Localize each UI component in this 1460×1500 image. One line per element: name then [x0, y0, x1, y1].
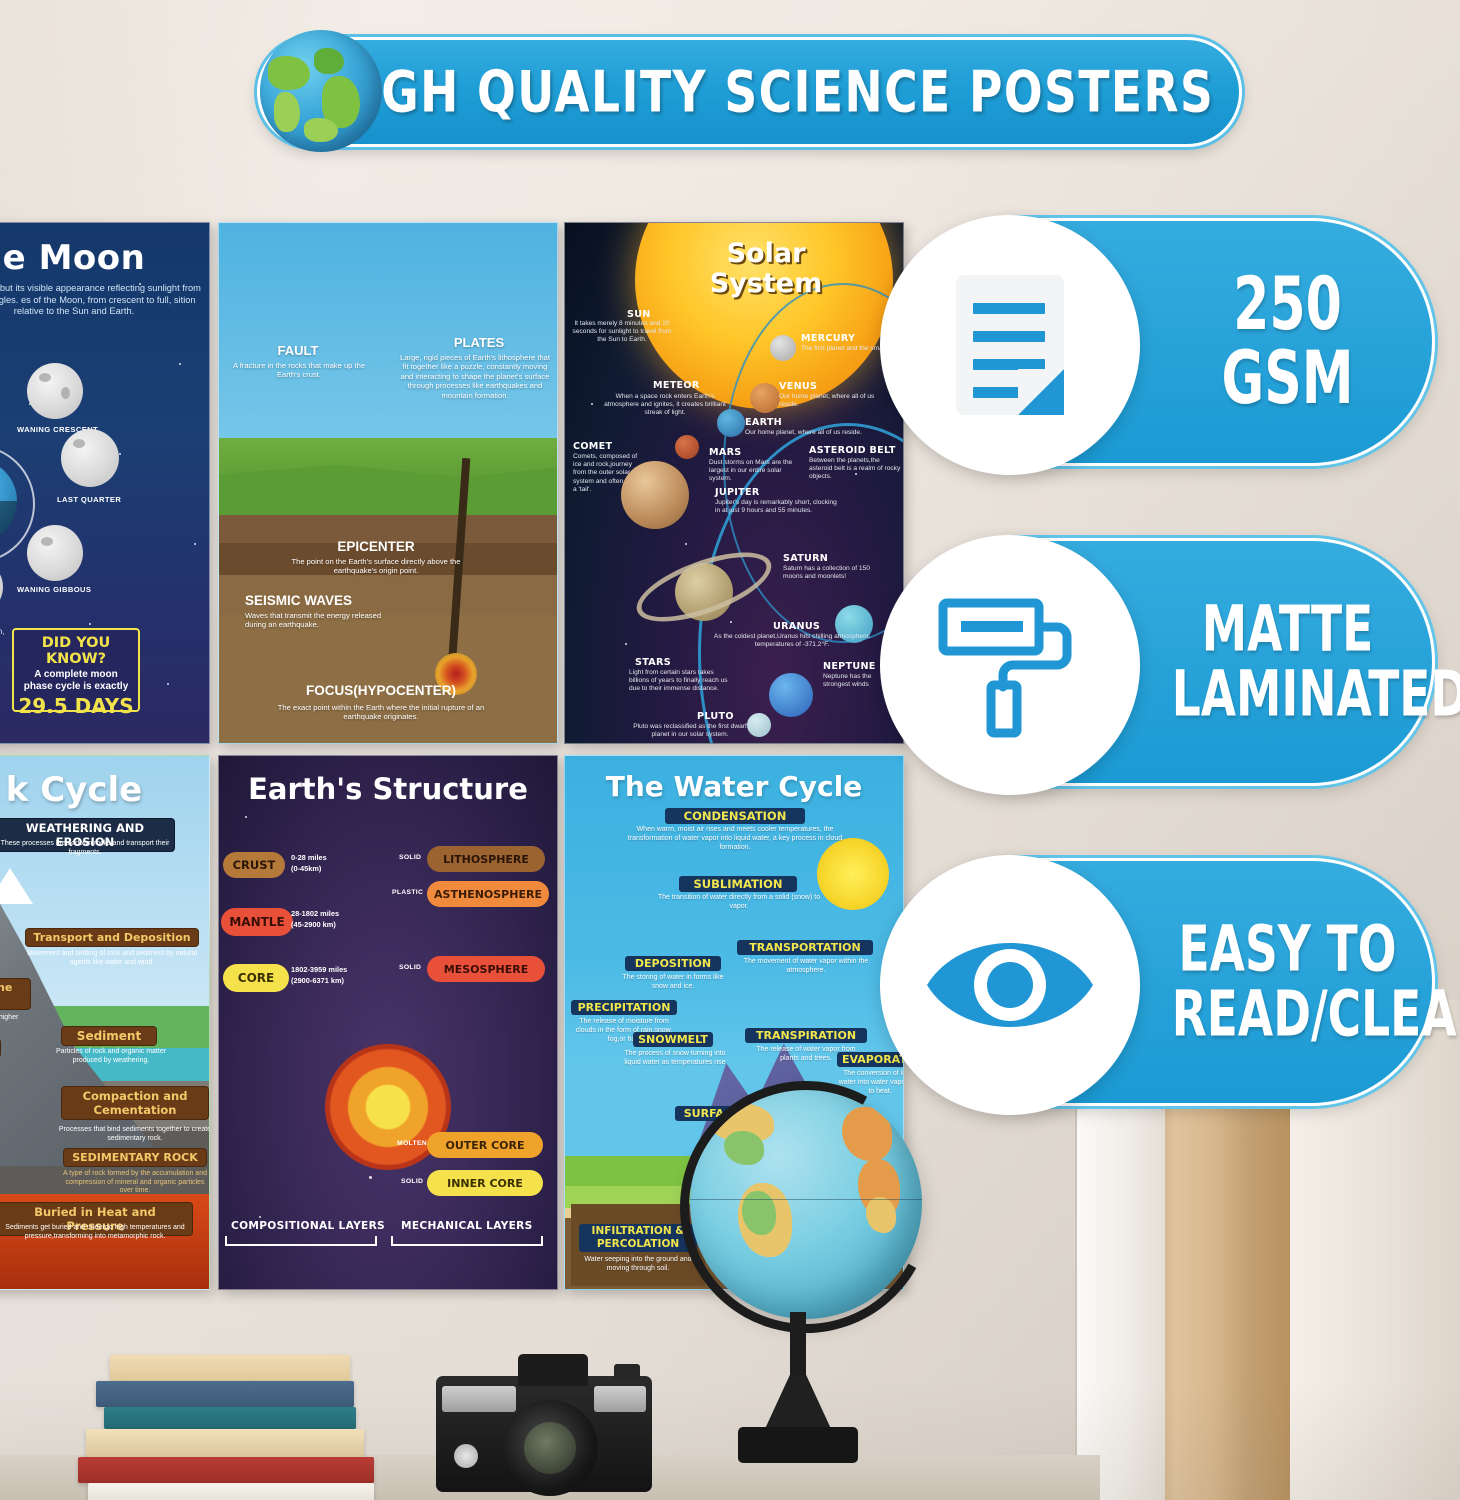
badge-line-2: READ/CLEAN — [1172, 977, 1460, 1051]
badge-icon-circle — [880, 215, 1140, 475]
layer-state-outer-core: MOLTEN — [397, 1140, 427, 1147]
feature-badge-easy: EASY TO READ/CLEAN — [895, 858, 1435, 1106]
layer-state-inner-core: SOLID — [401, 1178, 423, 1185]
stage-heading-deposition: DEPOSITION — [625, 956, 721, 971]
did-you-know-heading: DID YOU KNOW? — [14, 635, 138, 667]
depth-km: (45-2900 km) — [291, 920, 336, 929]
body-desc-asteroid-belt: Between the planets,the asteroid belt is… — [809, 457, 901, 482]
badge-line-1: MATTE — [1202, 592, 1373, 666]
badge-label-gsm: 250 GSM — [1172, 268, 1404, 416]
stage-heading-uplift: Slow Uplift to the Surface — [0, 978, 31, 1010]
stage-heading-precipitation: PRECIPITATION — [571, 1000, 677, 1015]
body-desc-sun: It takes merely 8 minutes and 20 seconds… — [569, 320, 675, 345]
stage-heading-compaction: Compaction and Cementation — [61, 1086, 209, 1120]
layer-depth-crust: 0-28 miles (0-45km) — [291, 853, 357, 874]
term-desc-plates: Large, rigid pieces of Earth's lithosphe… — [397, 353, 553, 400]
layer-pill-outer-core: OUTER CORE — [427, 1132, 543, 1158]
stage-desc-weathering: These processes break down rocks and tra… — [0, 840, 175, 857]
stage-heading-sedimentary: SEDIMENTARY ROCK — [63, 1148, 207, 1167]
term-heading-plates: PLATES — [409, 335, 549, 350]
term-heading-epicenter: EPICENTER — [281, 539, 471, 554]
globe-meridian-ring — [650, 1051, 962, 1363]
stage-heading-evaporation: EVAPORATION — [837, 1052, 904, 1067]
stage-desc-compaction: Processes that bind sediments together t… — [57, 1126, 210, 1143]
term-heading-fault: FAULT — [233, 343, 363, 358]
header-banner: HIGH QUALITY SCIENCE POSTERS — [257, 37, 1242, 147]
term-desc-fault: A fracture in the rocks that make up the… — [229, 361, 369, 380]
feature-badge-matte: MATTE LAMINATED — [895, 538, 1435, 786]
poster-earth-structure[interactable]: Earth's Structure CRUST 0-28 miles (0-45… — [218, 755, 558, 1290]
planet-earth — [717, 409, 745, 437]
term-desc-seismic-waves: Waves that transmit the energy released … — [245, 611, 395, 630]
poster-rock-cycle[interactable]: k Cycle WEATHERING AND EROSION These pro… — [0, 755, 210, 1290]
body-name-mars: MARS — [709, 447, 741, 458]
body-desc-earth: Our home planet, where all of us reside. — [745, 429, 865, 437]
poster-title-line1: Solar — [727, 238, 806, 269]
layer-pill-inner-core: INNER CORE — [427, 1170, 543, 1196]
depth-miles: 0-28 miles — [291, 853, 327, 862]
stage-heading-transpiration: TRANSPIRATION — [745, 1028, 867, 1043]
badge-line-2: LAMINATED — [1172, 657, 1460, 731]
stage-desc-igneous: e solidification of Magma or lava. — [0, 1060, 1, 1069]
term-heading-focus: FOCUS(HYPOCENTER) — [273, 683, 489, 698]
layer-state-lithosphere: SOLID — [399, 854, 421, 861]
new-moon-note-body: ximate alignment. of the Earth, so llen … — [0, 626, 9, 648]
stage-heading-transport: Transport and Deposition — [25, 928, 199, 947]
body-desc-neptune: Neptune has the strongest winds — [823, 673, 885, 689]
body-desc-uranus: As the coldest planet,Uranus hits chilli… — [713, 633, 871, 649]
badge-icon-circle — [880, 535, 1140, 795]
poster-title: Earth's Structure — [219, 772, 557, 806]
body-name-saturn: SATURN — [783, 553, 828, 564]
layer-pill-lithosphere: LITHOSPHERE — [427, 846, 545, 872]
planet-venus — [750, 383, 780, 413]
body-desc-meteor: When a space rock enters Earth's atmosph… — [603, 393, 727, 418]
moon-phase-waning-crescent — [27, 363, 83, 419]
poster-title: The Water Cycle — [565, 770, 903, 803]
stage-heading-sediment: Sediment — [61, 1026, 157, 1046]
layer-state-asthenosphere: PLASTIC — [392, 889, 423, 896]
stage-desc-condensation: When warm, moist air rises and meets coo… — [625, 826, 845, 852]
paint-roller-icon — [935, 589, 1085, 741]
badge-line-1: EASY TO — [1179, 912, 1397, 986]
stage-desc-uplift: dual movement of rock layers to higher p… — [0, 1014, 31, 1031]
bracket-left — [225, 1236, 377, 1246]
poster-title: Solar System — [661, 239, 871, 299]
stage-heading-sublimation: SUBLIMATION — [679, 876, 797, 892]
bracket-label-compositional: COMPOSITIONAL LAYERS — [231, 1220, 385, 1232]
body-desc-jupiter: Jupiter's day is remarkably short, clock… — [715, 499, 841, 515]
body-name-venus: VENUS — [779, 381, 817, 392]
term-heading-seismic-waves: SEISMIC WAVES — [245, 593, 405, 608]
page-title: HIGH QUALITY SCIENCE POSTERS — [285, 58, 1215, 125]
did-you-know-box: DID YOU KNOW? A complete moon phase cycl… — [12, 628, 140, 712]
layer-pill-core: CORE — [223, 964, 289, 992]
planet-mars — [675, 435, 699, 459]
badge-label-easy: EASY TO READ/CLEAN — [1172, 917, 1404, 1047]
body-name-jupiter: JUPITER — [715, 487, 760, 498]
body-desc-saturn: Saturn has a collection of 150 moons and… — [783, 565, 883, 581]
stack-of-books — [78, 1355, 398, 1500]
body-name-uranus: URANUS — [773, 621, 820, 632]
depth-km: (2900-6371 km) — [291, 976, 344, 985]
depth-km: (0-45km) — [291, 864, 321, 873]
term-desc-focus: The exact point within the Earth where t… — [271, 703, 491, 722]
layer-pill-asthenosphere: ASTHENOSPHERE — [427, 881, 549, 907]
body-desc-stars: Light from certain stars takes billions … — [629, 669, 733, 694]
layer-depth-core: 1802-3959 miles (2900-6371 km) — [291, 965, 369, 986]
globe-stand-neck — [790, 1312, 806, 1382]
stage-desc-deposition: The storing of water in forms like snow … — [619, 974, 727, 992]
badge-icon-circle — [880, 855, 1140, 1115]
body-desc-venus: Our home planet, where all of us reside. — [779, 393, 891, 409]
body-name-meteor: METEOR — [653, 380, 700, 391]
moon-phase-label: WANING GIBBOUS — [17, 585, 91, 594]
soil-layer — [219, 615, 557, 744]
body-desc-pluto: Pluto was reclassified as the first dwar… — [627, 723, 753, 739]
layer-state-mesosphere: SOLID — [399, 964, 421, 971]
desk-globe — [672, 1087, 940, 1500]
globe-stand-cone — [764, 1375, 832, 1431]
stage-desc-sediment: Particles of rock and organic matter pro… — [45, 1048, 177, 1065]
stage-desc-transport: Movement and settling of rock and sedime… — [25, 950, 199, 967]
document-paper-icon — [956, 275, 1064, 415]
did-you-know-body: A complete moon phase cycle is exactly — [14, 667, 138, 693]
layer-pill-mantle: MANTLE — [221, 908, 293, 936]
poster-moon-phases[interactable]: e Moon ns constant, but its visible appe… — [0, 222, 210, 744]
moon-phase-last-quarter — [61, 429, 119, 487]
stage-heading-igneous: US ROCK — [0, 1038, 1, 1058]
feature-badge-gsm: 250 GSM — [895, 218, 1435, 466]
did-you-know-value: 29.5 DAYS — [14, 694, 138, 718]
poster-solar-system[interactable]: Solar System SUN It takes merely 8 minut… — [564, 222, 904, 744]
layer-pill-mesosphere: MESOSPHERE — [427, 956, 545, 982]
body-name-mercury: MERCURY — [801, 333, 855, 344]
body-name-asteroid-belt: ASTEROID BELT — [809, 445, 896, 456]
depth-miles: 1802-3959 miles — [291, 965, 347, 974]
earth-globe-icon — [260, 30, 382, 152]
eye-icon — [921, 923, 1099, 1047]
globe-base — [738, 1427, 858, 1463]
stage-desc-transportation: The movement of water vapor within the a… — [733, 958, 879, 976]
bracket-right — [391, 1236, 543, 1246]
bracket-label-mechanical: MECHANICAL LAYERS — [401, 1220, 533, 1232]
vintage-film-camera — [418, 1348, 668, 1500]
stage-heading-transportation: TRANSPORTATION — [737, 940, 873, 955]
term-desc-epicenter: The point on the Earth's surface directl… — [277, 557, 475, 576]
planet-jupiter — [621, 461, 689, 529]
body-name-comet: COMET — [573, 441, 612, 452]
depth-miles: 28-1802 miles — [291, 909, 339, 918]
body-name-earth: EARTH — [745, 417, 782, 428]
stage-heading-snowmelt: SNOWMELT — [633, 1032, 713, 1047]
moon-phase-label: LAST QUARTER — [57, 495, 121, 504]
body-name-neptune: NEPTUNE — [823, 661, 876, 672]
layer-depth-mantle: 28-1802 miles (45-2900 km) — [291, 909, 365, 930]
body-desc-mars: Dust storms on Mars are the largest in o… — [709, 459, 801, 484]
badge-label-matte: MATTE LAMINATED — [1172, 597, 1404, 727]
body-name-sun: SUN — [627, 309, 651, 320]
stage-desc-sedimentary: A type of rock formed by the accumulatio… — [59, 1170, 210, 1196]
poster-earthquake[interactable]: Earthquake A sudden shaking of the groun… — [218, 222, 558, 744]
stage-desc-snowmelt: The process of snow turning into liquid … — [623, 1050, 727, 1068]
poster-title: k Cycle — [0, 770, 209, 810]
stage-heading-condensation: CONDENSATION — [665, 808, 805, 824]
body-name-pluto: PLUTO — [697, 711, 734, 722]
stage-desc-sublimation: The transition of water directly from a … — [649, 894, 829, 912]
body-name-stars: STARS — [635, 657, 671, 668]
planet-mercury — [770, 335, 796, 361]
planet-neptune — [769, 673, 813, 717]
poster-title-line2: System — [710, 268, 822, 299]
moon-phase-waning-gibbous — [27, 525, 83, 581]
layer-pill-crust: CRUST — [223, 852, 285, 878]
stage-desc-buried: Sediments get buried and undergo high te… — [0, 1224, 193, 1241]
